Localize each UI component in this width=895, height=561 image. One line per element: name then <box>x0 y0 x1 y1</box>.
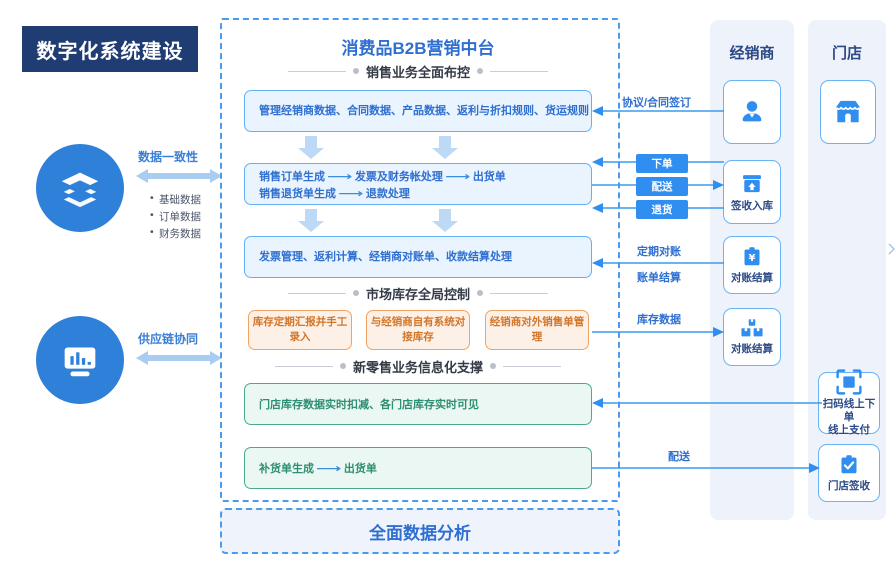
boxes-inventory-icon <box>739 318 765 340</box>
layers-icon-circle <box>36 144 124 232</box>
diagram-canvas: 数字化系统建设 数据一致性 • 基础数据 • 订单数据 • <box>0 0 895 561</box>
storefront-icon <box>833 99 863 125</box>
svg-text:¥: ¥ <box>749 253 756 264</box>
down-arrow-icon <box>430 136 460 160</box>
inventory-box-manual-report-label: 库存定期汇报并手工录入 <box>249 315 351 345</box>
process-box-store-inventory-label: 门店库存数据实时扣减、各门店库存实时可见 <box>245 384 591 412</box>
card-dealer-receive-label: 签收入库 <box>731 200 773 213</box>
connector-badge-order[interactable]: 下单 <box>636 154 688 173</box>
connector-badge-return[interactable]: 退货 <box>636 200 688 219</box>
bullet-marker: • <box>150 226 159 238</box>
clipboard-check-icon <box>837 453 861 477</box>
process-box-replenishment-content: 补货单生成 ⟶ 出货单 <box>245 448 591 476</box>
card-store-scan-label: 扫码线上下单 线上支付 <box>819 398 879 437</box>
divider-dot-right <box>477 68 483 74</box>
card-store-scan-line-1: 扫码线上下单 <box>823 398 876 423</box>
process-box-master-data[interactable]: 管理经销商数据、合同数据、产品数据、返利与折扣规则、货运规则 <box>244 90 592 132</box>
section-divider-inventory: 市场库存全局控制 <box>220 284 616 302</box>
card-store-scan[interactable]: 扫码线上下单 线上支付 <box>818 372 880 434</box>
connector-line-store-inventory <box>592 396 822 410</box>
replenish-step-1: 补货单生成 <box>259 463 314 475</box>
section-divider-retail: 新零售业务信息化支撑 <box>220 357 616 375</box>
section-divider-sales: 销售业务全面布控 <box>220 62 616 80</box>
list-item-label: 订单数据 <box>159 209 201 224</box>
card-store-sign[interactable]: 门店签收 <box>818 444 880 502</box>
list-item-label: 财务数据 <box>159 226 201 241</box>
inventory-box-system-integration-label: 与经销商自有系统对接库存 <box>367 315 469 345</box>
divider-line-left <box>288 71 346 72</box>
inventory-box-manual-report[interactable]: 库存定期汇报并手工录入 <box>248 310 352 350</box>
column-dealer-title: 经销商 <box>710 20 794 63</box>
process-box-orders-content: 销售订单生成 ⟶ 发票及财务帐处理 ⟶ 出货单 销售退货单生成 ⟶ 退款处理 <box>245 164 591 203</box>
connector-line-settlement <box>592 256 724 270</box>
chevron-right-icon <box>888 243 895 255</box>
double-arrow-icon <box>136 168 222 182</box>
supply-chain-label: 供应链协同 <box>138 330 198 347</box>
double-arrow-icon <box>136 350 222 364</box>
divider-dot-right <box>490 363 496 369</box>
replenish-step-2: 出货单 <box>344 463 377 475</box>
flow-arrow-icon: ⟶ <box>316 462 341 475</box>
connector-badge-delivery[interactable]: 配送 <box>636 177 688 196</box>
divider-dot-right <box>477 290 483 296</box>
inventory-box-dealer-sales-order[interactable]: 经销商对外销售单管理 <box>485 310 589 350</box>
page-title-text: 数字化系统建设 <box>37 35 184 64</box>
section-label: 销售业务全面布控 <box>366 62 470 81</box>
divider-dot-left <box>353 68 359 74</box>
process-box-finance[interactable]: 发票管理、返利计算、经销商对账单、收款结算处理 <box>244 236 592 278</box>
orders-step-3: 出货单 <box>473 171 506 183</box>
card-store-sign-label: 门店签收 <box>828 480 870 493</box>
box-upload-icon <box>739 171 765 197</box>
connector-label-bill-settle: 账单结算 <box>637 269 681 285</box>
card-store-shop[interactable] <box>820 80 876 144</box>
inventory-box-system-integration[interactable]: 与经销商自有系统对接库存 <box>366 310 470 350</box>
person-icon <box>737 97 767 127</box>
flow-arrow-icon: ⟶ <box>338 186 363 203</box>
card-dealer-person[interactable] <box>723 80 781 144</box>
divider-line-right <box>503 366 561 367</box>
list-item-label: 基础数据 <box>159 192 201 207</box>
returns-step-1: 销售退货单生成 <box>259 188 336 200</box>
process-box-finance-label: 发票管理、返利计算、经销商对账单、收款结算处理 <box>245 237 591 266</box>
qr-scan-icon <box>836 369 862 395</box>
process-box-master-data-label: 管理经销商数据、合同数据、产品数据、返利与折扣规则、货运规则 <box>245 91 591 120</box>
down-arrow-icon <box>430 209 460 233</box>
card-dealer-receive[interactable]: 签收入库 <box>723 160 781 224</box>
bullet-marker: • <box>150 209 159 221</box>
clipboard-yen-icon: ¥ <box>740 245 764 269</box>
connector-line-delivery-store <box>592 461 820 475</box>
inventory-box-dealer-sales-order-label: 经销商对外销售单管理 <box>486 315 588 345</box>
card-dealer-settle[interactable]: ¥ 对账结算 <box>723 236 781 294</box>
connector-line-inventory <box>592 325 724 339</box>
column-store-title: 门店 <box>808 20 886 63</box>
card-dealer-inventory[interactable]: 对账结算 <box>723 308 781 366</box>
data-analysis-banner: 全面数据分析 <box>220 508 620 554</box>
data-analysis-banner-label: 全面数据分析 <box>369 519 471 544</box>
monitor-chart-icon-circle <box>36 316 124 404</box>
down-arrow-icon <box>296 136 326 160</box>
bullet-marker: • <box>150 192 159 204</box>
returns-step-2: 退款处理 <box>366 188 410 200</box>
section-label: 市场库存全局控制 <box>366 284 470 303</box>
page-title: 数字化系统建设 <box>22 26 198 72</box>
divider-dot-left <box>353 290 359 296</box>
orders-line-2: 销售退货单生成 ⟶ 退款处理 <box>259 186 591 203</box>
layers-icon <box>57 165 103 211</box>
orders-step-1: 销售订单生成 <box>259 171 325 183</box>
card-dealer-inventory-label: 对账结算 <box>731 343 773 356</box>
divider-line-right <box>490 71 548 72</box>
process-box-store-inventory[interactable]: 门店库存数据实时扣减、各门店库存实时可见 <box>244 383 592 425</box>
flow-arrow-icon: ⟶ <box>327 169 352 186</box>
card-store-scan-line-2: 线上支付 <box>828 424 870 436</box>
divider-line-right <box>490 293 548 294</box>
data-consistency-label: 数据一致性 <box>138 148 198 165</box>
divider-dot-left <box>340 363 346 369</box>
orders-line-1: 销售订单生成 ⟶ 发票及财务帐处理 ⟶ 出货单 <box>259 169 591 186</box>
section-label: 新零售业务信息化支撑 <box>353 357 483 376</box>
divider-line-left <box>275 366 333 367</box>
center-panel-title: 消费品B2B营销中台 <box>220 34 616 59</box>
card-dealer-settle-label: 对账结算 <box>731 272 773 285</box>
connector-line-agreement <box>592 104 724 118</box>
flow-arrow-icon: ⟶ <box>445 169 470 186</box>
orders-step-2: 发票及财务帐处理 <box>355 171 443 183</box>
process-box-replenishment[interactable]: 补货单生成 ⟶ 出货单 <box>244 447 592 489</box>
monitor-chart-icon <box>57 337 103 383</box>
down-arrow-icon <box>296 209 326 233</box>
divider-line-left <box>288 293 346 294</box>
process-box-orders[interactable]: 销售订单生成 ⟶ 发票及财务帐处理 ⟶ 出货单 销售退货单生成 ⟶ 退款处理 <box>244 163 592 205</box>
